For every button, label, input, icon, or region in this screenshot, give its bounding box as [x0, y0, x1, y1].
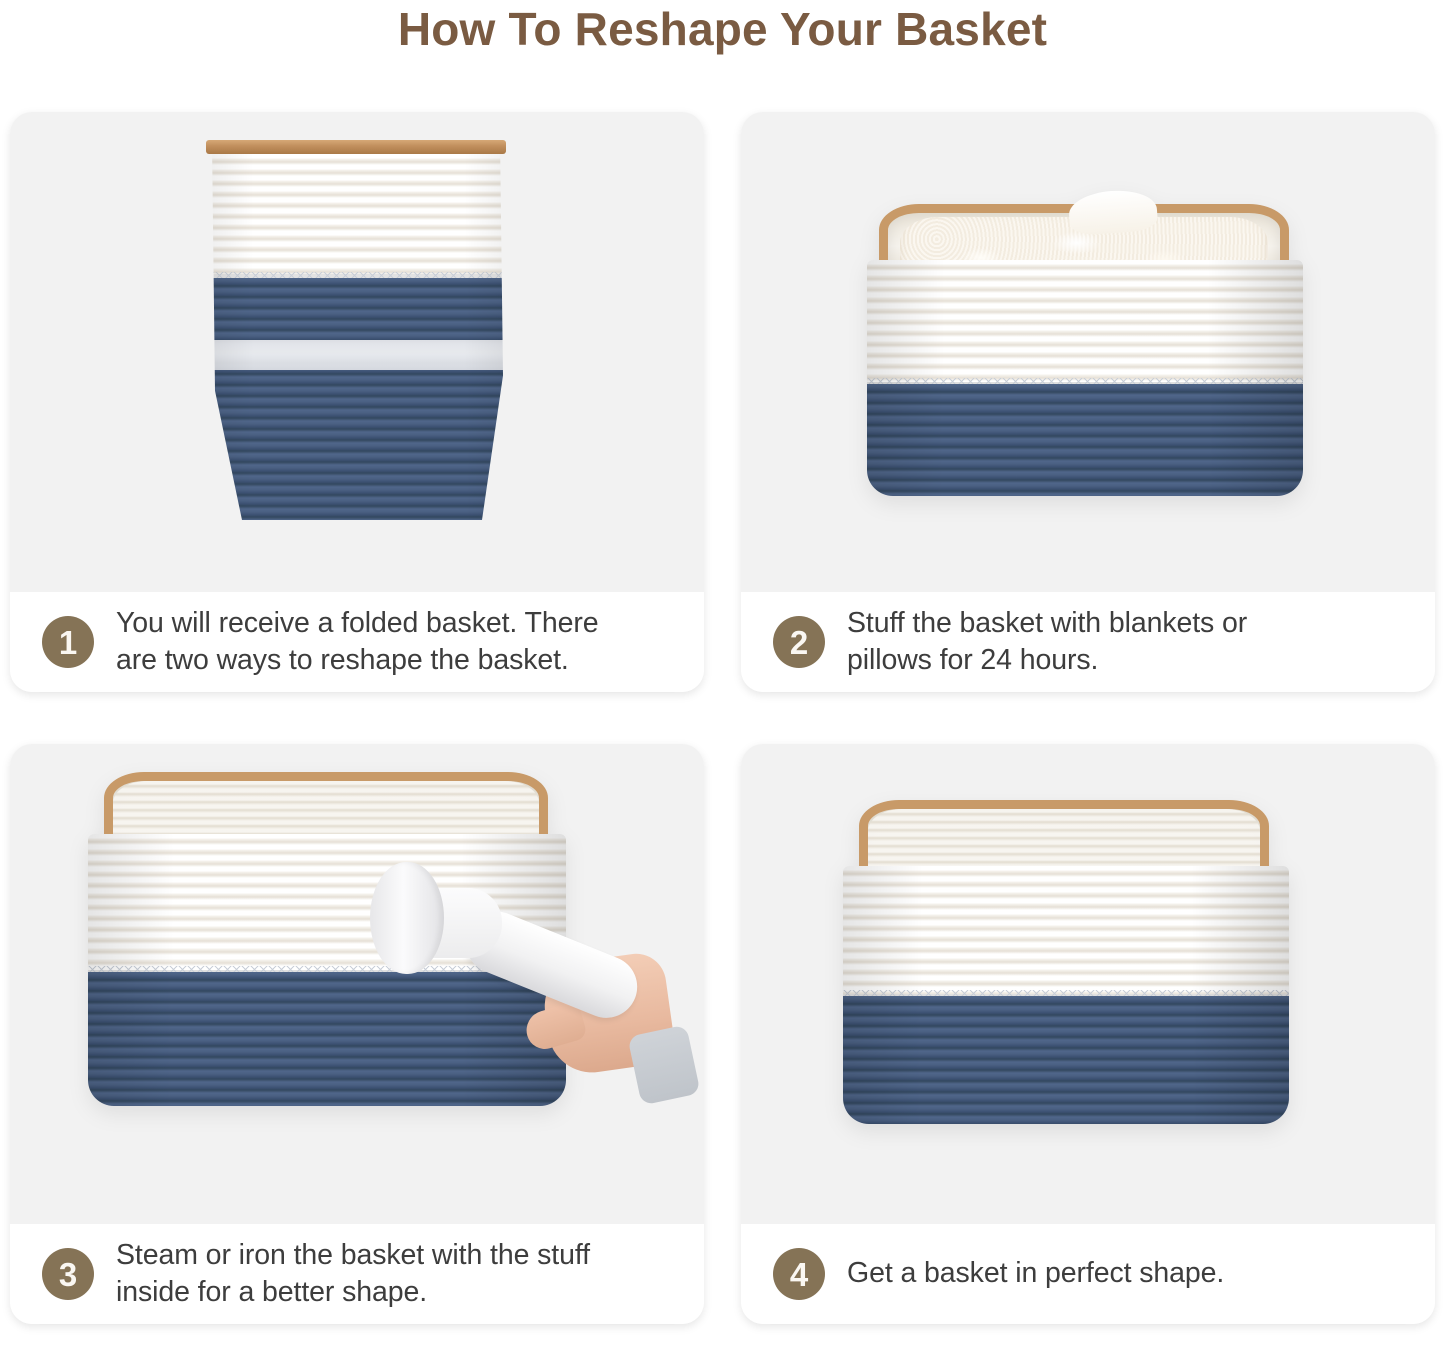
page-title: How To Reshape Your Basket: [0, 2, 1445, 56]
step-caption-text: Get a basket in perfect shape.: [847, 1255, 1224, 1292]
basket-tan-rim: [206, 140, 506, 154]
basket-navy-section: [843, 996, 1289, 1124]
blanket-peak: [1068, 188, 1159, 236]
sleeve: [627, 1025, 700, 1106]
basket-white-section: [867, 260, 1303, 382]
step-number-badge: 3: [42, 1248, 94, 1300]
step-caption-text: Stuff the basket with blankets or pillow…: [847, 605, 1247, 679]
step-3-photo: [10, 744, 704, 1224]
basket-white-section: [843, 866, 1289, 994]
folded-basket-illustration: [206, 140, 506, 520]
step-caption-text: You will receive a folded basket. There …: [116, 605, 598, 679]
infographic-page: How To Reshape Your Basket: [0, 0, 1445, 1345]
shade-left: [206, 140, 254, 520]
basket-front-wall: [843, 866, 1289, 1124]
step-4-photo: [741, 744, 1435, 1224]
step-1-caption: 1 You will receive a folded basket. Ther…: [10, 592, 704, 692]
step-number-badge: 2: [773, 616, 825, 668]
shade-right: [464, 140, 506, 520]
step-4-caption: 4 Get a basket in perfect shape.: [741, 1224, 1435, 1324]
step-number-badge: 1: [42, 616, 94, 668]
steps-grid: 1 You will receive a folded basket. Ther…: [10, 112, 1435, 1332]
basket-navy-section: [867, 384, 1303, 496]
step-card-3: 3 Steam or iron the basket with the stuf…: [10, 744, 704, 1324]
step-1-photo: [10, 112, 704, 592]
step-card-1: 1 You will receive a folded basket. Ther…: [10, 112, 704, 692]
step-caption-text: Steam or iron the basket with the stuff …: [116, 1237, 590, 1311]
basket-front-wall: [867, 260, 1303, 496]
step-card-4: 4 Get a basket in perfect shape.: [741, 744, 1435, 1324]
step-number-badge: 4: [773, 1248, 825, 1300]
step-3-caption: 3 Steam or iron the basket with the stuf…: [10, 1224, 704, 1324]
stuffed-basket-illustration: [861, 204, 1321, 504]
step-card-2: 2 Stuff the basket with blankets or pill…: [741, 112, 1435, 692]
perfect-shape-basket-illustration: [837, 800, 1317, 1130]
step-2-caption: 2 Stuff the basket with blankets or pill…: [741, 592, 1435, 692]
steamer-head-plate: [370, 862, 444, 974]
garment-steamer-illustration: [358, 862, 658, 1112]
step-2-photo: [741, 112, 1435, 592]
